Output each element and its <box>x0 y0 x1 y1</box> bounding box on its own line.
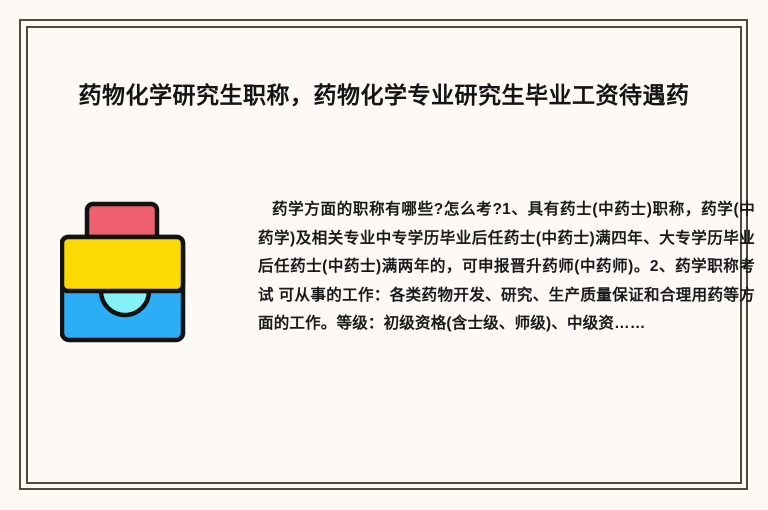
article-body-text: 药学方面的职称有哪些?怎么考?1、具有药士(中药士)职称，药学(中药学)及相关专… <box>258 196 755 339</box>
toolbox-briefcase-illustration <box>60 200 190 345</box>
page-title: 药物化学研究生职称，药物化学专业研究生毕业工资待遇药 <box>52 78 716 113</box>
content-card-page: 药物化学研究生职称，药物化学专业研究生毕业工资待遇药 药学方面的职称有哪些?怎么… <box>0 0 768 510</box>
article-content: 药学方面的职称有哪些?怎么考?1、具有药士(中药士)职称，药学(中药学)及相关专… <box>40 185 740 405</box>
toolbox-band-shape <box>62 237 183 291</box>
